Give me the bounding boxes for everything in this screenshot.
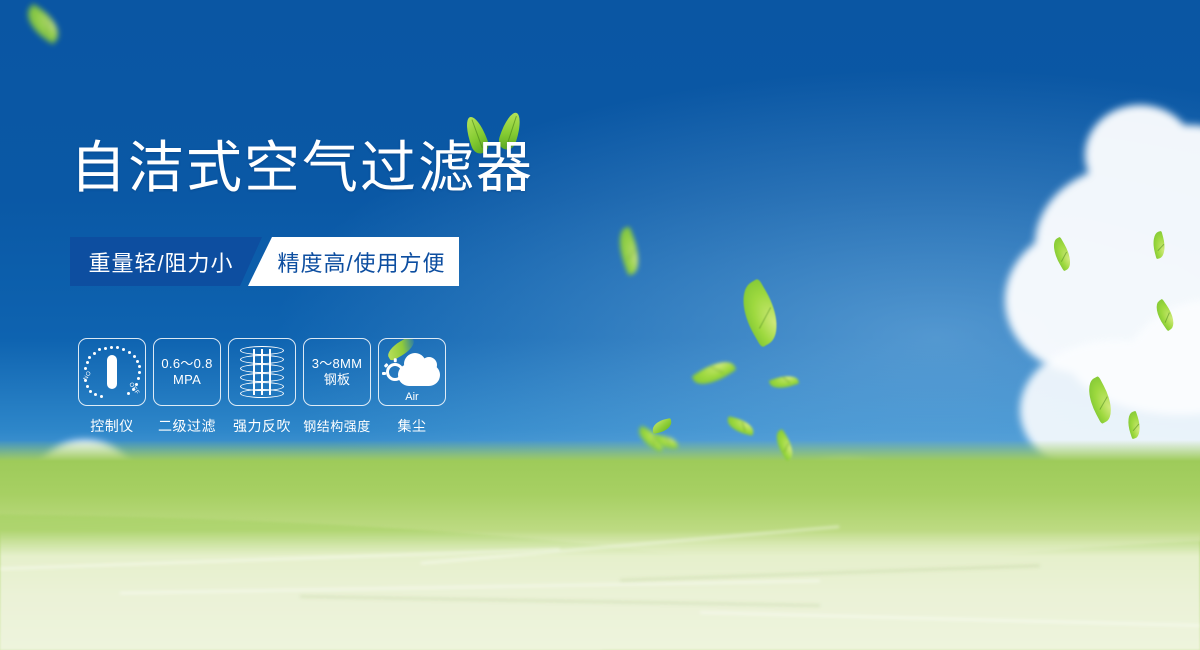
feature-icon-box: NO OFF (78, 338, 146, 406)
feature-label: 钢结构强度 (303, 416, 371, 435)
subtitle-bar: 重量轻/阻力小 精度高/使用方便 (70, 237, 459, 286)
hero-banner: 自洁式空气过滤器 重量轻/阻力小 精度高/使用方便 (0, 0, 1200, 650)
steel-text-icon: 3～8MM 钢板 (312, 356, 363, 388)
feature-item-dust-collection[interactable]: Air 集尘 (378, 338, 446, 436)
subtitle-right-text: 精度高/使用方便 (277, 246, 445, 278)
feature-icon-box (228, 338, 296, 406)
feature-icon-box: Air (378, 338, 446, 406)
filter-discs-icon (240, 346, 284, 398)
feature-item-steel-strength[interactable]: 3～8MM 钢板 钢结构强度 (303, 338, 371, 436)
feature-item-backblow[interactable]: 强力反吹 (228, 338, 296, 436)
air-label: Air (384, 391, 440, 403)
feature-label: 强力反吹 (233, 416, 291, 436)
subtitle-right-panel: 精度高/使用方便 (248, 237, 459, 286)
subtitle-left-panel: 重量轻/阻力小 (70, 237, 262, 286)
feature-icon-box: 3～8MM 钢板 (303, 338, 371, 406)
feature-label: 集尘 (398, 416, 427, 436)
cloud-air-icon: Air (384, 349, 440, 395)
pressure-text-icon: 0.6～0.8 MPA (161, 356, 212, 388)
feature-item-controller[interactable]: NO OFF 控制仪 (78, 338, 146, 436)
gauge-needle (107, 355, 117, 389)
feature-label: 控制仪 (90, 416, 134, 436)
feature-label: 二级过滤 (158, 416, 216, 436)
feature-icon-box: 0.6～0.8 MPA (153, 338, 221, 406)
subtitle-left-text: 重量轻/阻力小 (88, 246, 233, 278)
steel-thickness: 3～8MM (312, 356, 363, 372)
gauge-icon: NO OFF (83, 346, 141, 398)
feature-item-secondary-filter[interactable]: 0.6～0.8 MPA 二级过滤 (153, 338, 221, 436)
pressure-value: 0.6～0.8 (161, 356, 212, 372)
page-title: 自洁式空气过滤器 (70, 140, 534, 196)
feature-list: NO OFF 控制仪 0.6～0.8 MPA 二级过滤 (78, 338, 446, 436)
steel-material: 钢板 (312, 372, 363, 388)
grass-field (0, 440, 1200, 650)
pressure-unit: MPA (161, 372, 212, 388)
gauge-label-on: NO (83, 370, 93, 382)
cloud-shape-icon (398, 364, 440, 386)
